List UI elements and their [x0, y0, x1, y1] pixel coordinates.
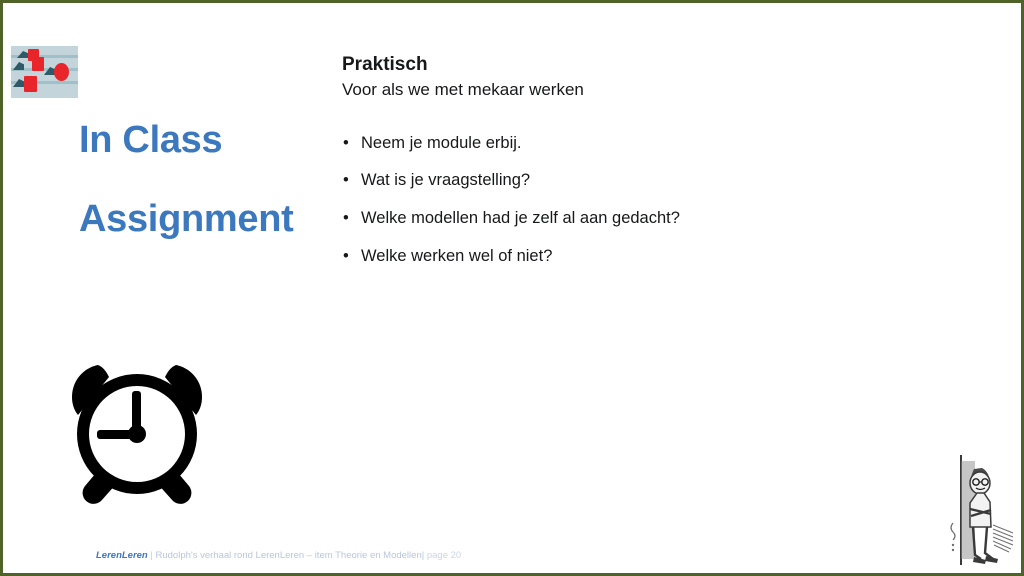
list-item: • Welke werken wel of niet? [342, 246, 982, 267]
list-item: • Welke modellen had je zelf al aan geda… [342, 208, 982, 229]
slide-canvas: In Class Assignment Praktisch Voor als w… [0, 0, 1024, 576]
alarm-clock-icon [67, 355, 207, 507]
bullet-dot-icon: • [343, 208, 349, 229]
content-column: Praktisch Voor als we met mekaar werken … [342, 53, 982, 283]
bullet-dot-icon: • [343, 246, 349, 267]
list-item-label: Welke werken wel of niet? [361, 247, 552, 265]
logo-block-shape [32, 57, 44, 71]
list-item-label: Wat is je vraagstelling? [361, 171, 530, 189]
footer-separator: | [148, 550, 156, 561]
bullet-dot-icon: • [343, 170, 349, 191]
content-heading: Praktisch [342, 53, 982, 77]
pushing-blocks-logo [11, 46, 78, 98]
footer-description: Rudolph's verhaal rond LerenLeren – item… [156, 550, 425, 561]
bullet-list: • Neem je module erbij. • Wat is je vraa… [342, 133, 982, 267]
footer: LerenLeren | Rudolph's verhaal rond Lere… [96, 550, 461, 561]
list-item: • Wat is je vraagstelling? [342, 170, 982, 191]
footer-brand: LerenLeren [96, 550, 148, 561]
slide-title-line-2: Assignment [79, 200, 334, 238]
content-subheading: Voor als we met mekaar werken [342, 79, 982, 101]
list-item-label: Neem je module erbij. [361, 134, 522, 152]
logo-ball-shape [54, 63, 69, 81]
slide-title-line-1: In Class [79, 121, 334, 159]
list-item-label: Welke modellen had je zelf al aan gedach… [361, 209, 680, 227]
slide-title: In Class Assignment [79, 121, 334, 238]
person-leaning-sketch-icon [941, 455, 1019, 573]
logo-block-shape [24, 76, 37, 92]
logo-figure-icon [13, 62, 24, 70]
footer-page-number: page 20 [424, 550, 461, 561]
list-item: • Neem je module erbij. [342, 133, 982, 154]
bullet-dot-icon: • [343, 133, 349, 154]
